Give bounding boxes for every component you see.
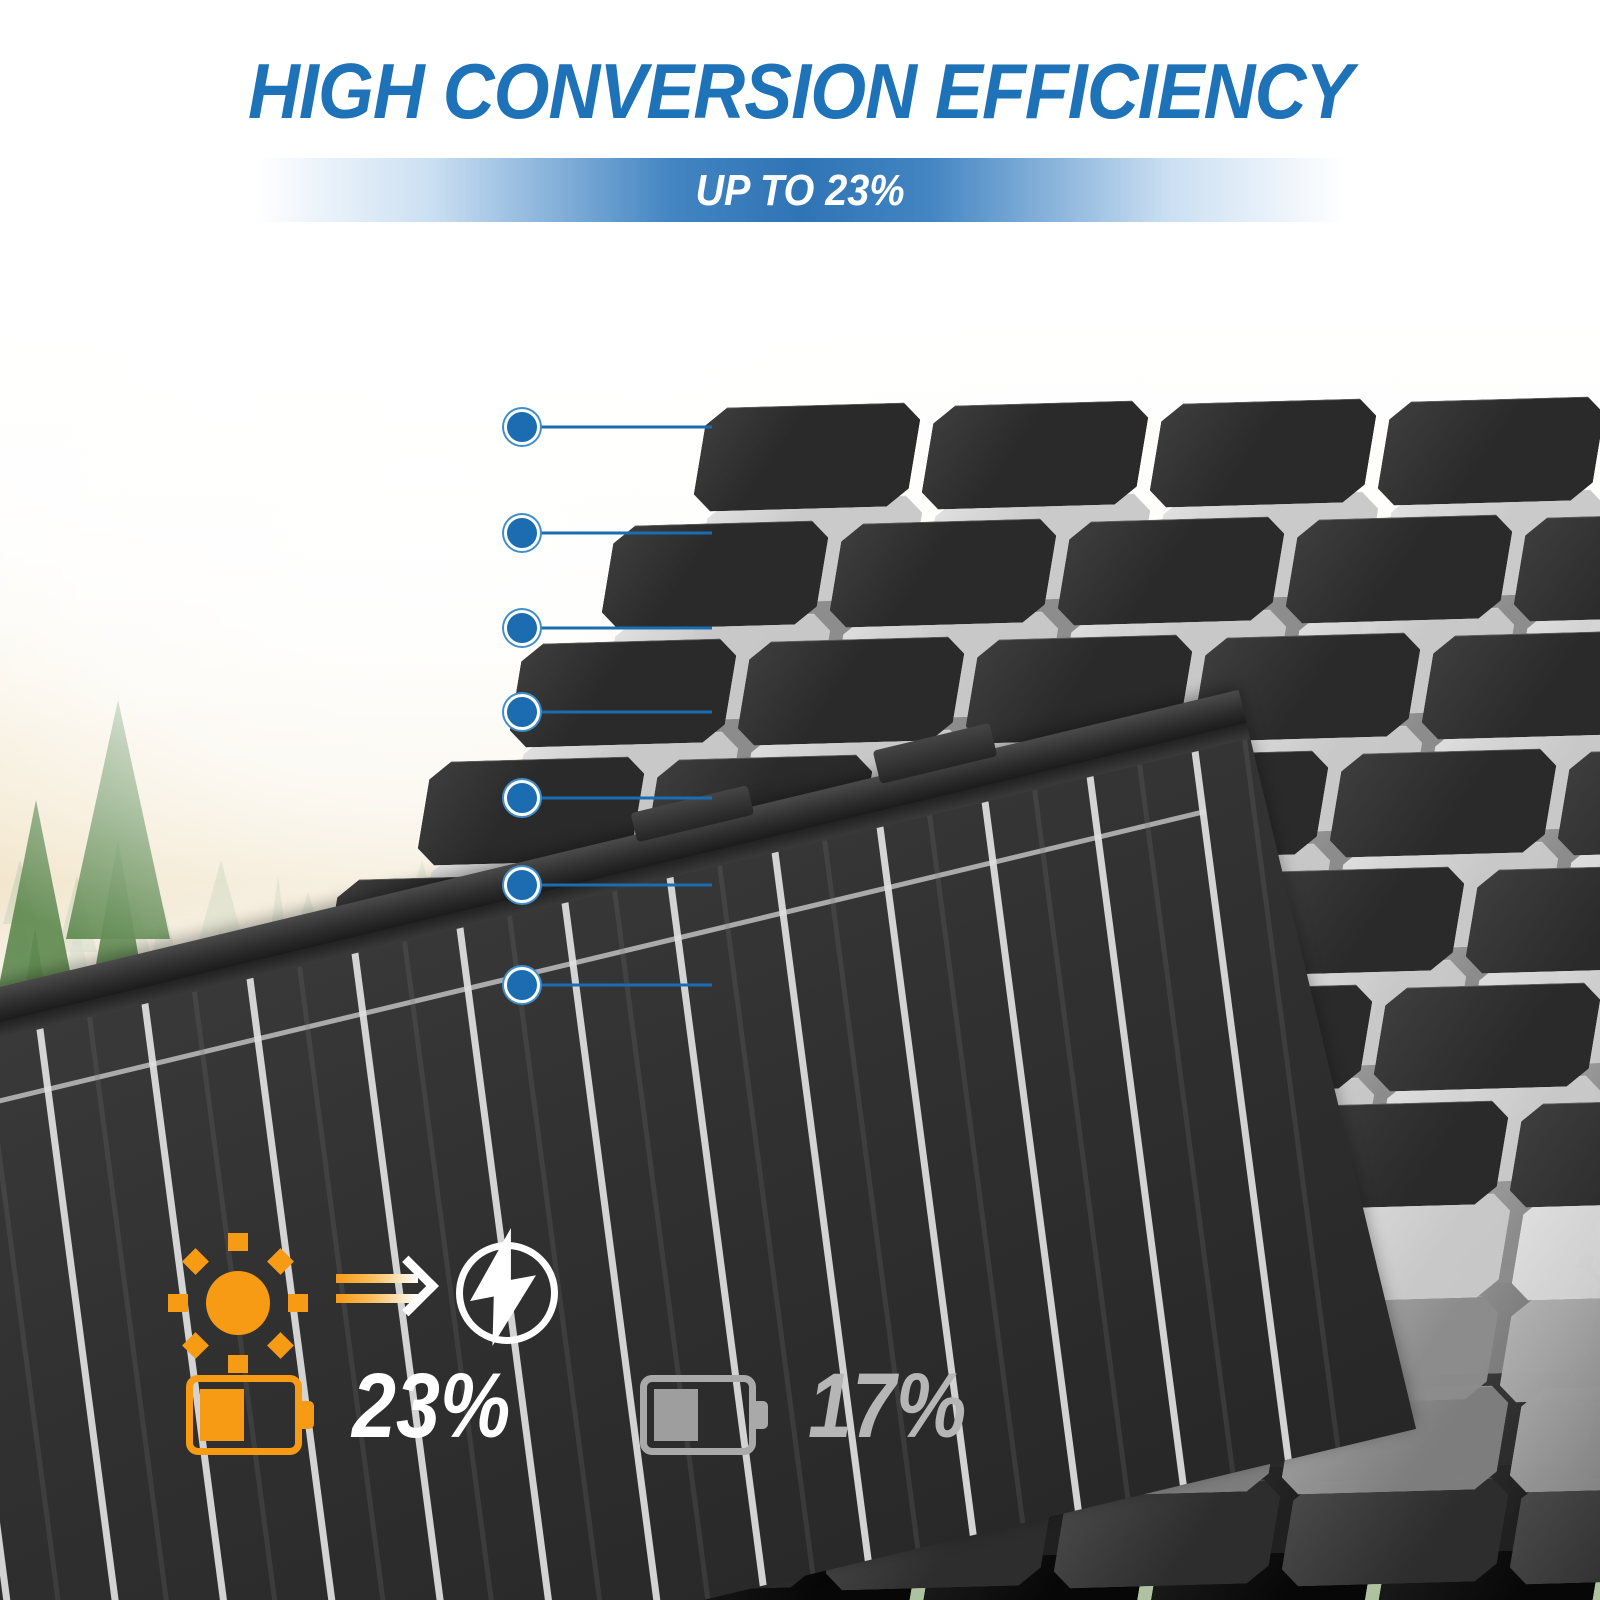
battery-icon-standard [640, 1375, 768, 1455]
sun-ray-ne [267, 1248, 294, 1275]
page-title-wrap: HIGH CONVERSION EFFICIENCY [0, 52, 1600, 130]
subtitle-text: UP TO 23% [80, 159, 1520, 223]
efficiency-value-standard: 17% [808, 1360, 966, 1452]
page-title: HIGH CONVERSION EFFICIENCY [248, 52, 1352, 130]
sun-ray-s [228, 1355, 248, 1373]
battery-terminal-ours [301, 1401, 314, 1429]
sun-ray-n [228, 1233, 248, 1251]
arrow-head [378, 1256, 439, 1317]
sun-ray-w [168, 1294, 188, 1312]
sun-core [206, 1271, 270, 1335]
lightning-bolt-icon [448, 1228, 560, 1346]
header: HIGH CONVERSION EFFICIENCY UP TO 23% [0, 0, 1600, 250]
sun-ray-se [267, 1332, 294, 1359]
sun-ray-nw [182, 1248, 209, 1275]
battery-fill-standard [654, 1389, 698, 1441]
battery-icon-ours [186, 1375, 314, 1455]
battery-fill-ours [200, 1389, 244, 1441]
infographic-canvas: PETEVAA-GRADE MONOCRYSTALNE SOLAR CELLSE… [0, 0, 1600, 1600]
sun-ray-e [288, 1294, 308, 1312]
sun-ray-sw [182, 1332, 209, 1359]
arrow-right-icon [336, 1258, 432, 1328]
battery-terminal-standard [755, 1401, 768, 1429]
efficiency-value-ours: 23% [352, 1360, 510, 1452]
sun-icon [168, 1233, 308, 1373]
